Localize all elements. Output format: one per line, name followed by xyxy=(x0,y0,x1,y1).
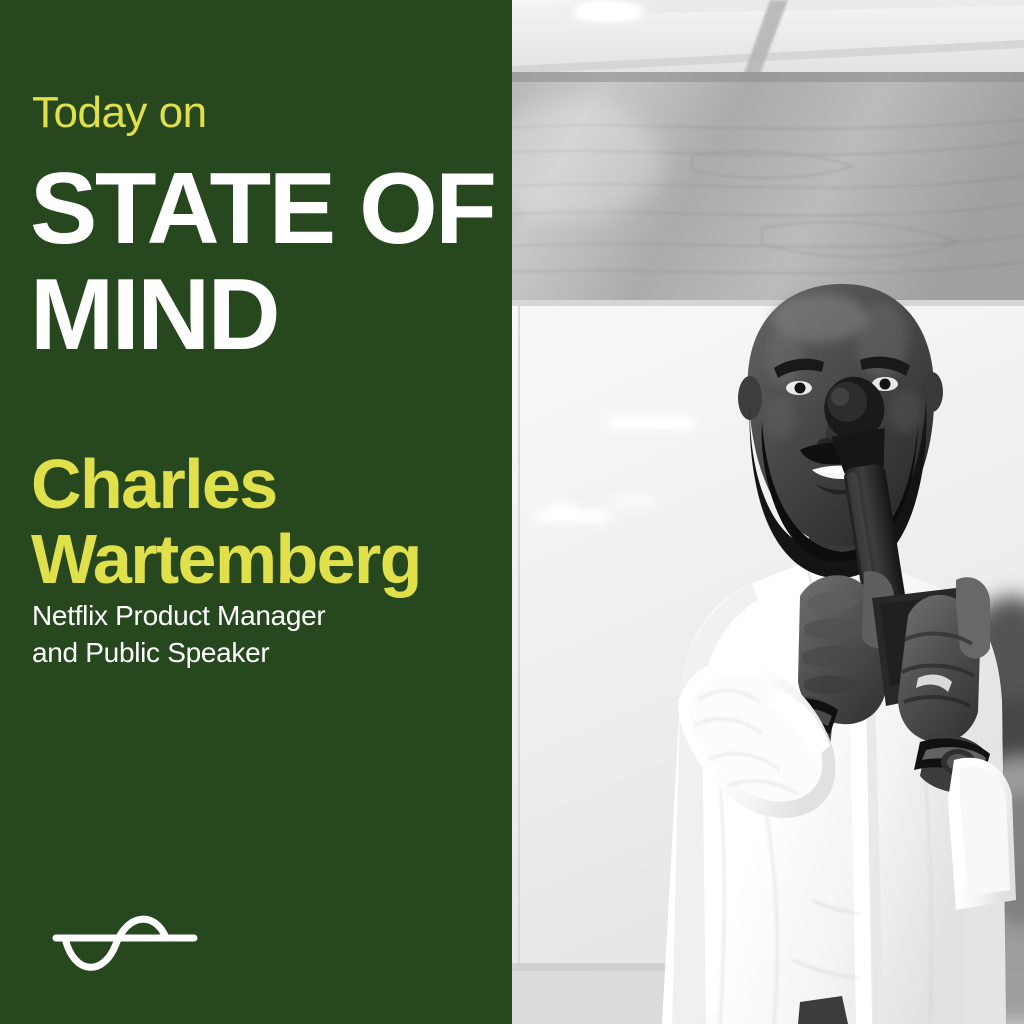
sine-wave-logo-icon xyxy=(50,900,200,980)
eye-right xyxy=(880,379,891,390)
speaker-photo-illustration xyxy=(512,0,1024,1024)
eye-left xyxy=(795,383,806,394)
title-panel: Today on STATE OF MIND Charles Wartember… xyxy=(0,0,512,1024)
brand-logo xyxy=(50,900,200,980)
show-title: STATE OF MIND xyxy=(30,156,494,368)
speaker-photo xyxy=(512,0,1024,1024)
guest-role: Netflix Product Manager and Public Speak… xyxy=(32,597,325,671)
logo-sine-wave xyxy=(65,919,166,967)
guest-name: Charles Wartemberg xyxy=(31,447,421,597)
thumb xyxy=(956,577,990,658)
eyebrow-label: Today on xyxy=(32,87,207,139)
podcast-episode-card: Today on STATE OF MIND Charles Wartember… xyxy=(0,0,1024,1024)
